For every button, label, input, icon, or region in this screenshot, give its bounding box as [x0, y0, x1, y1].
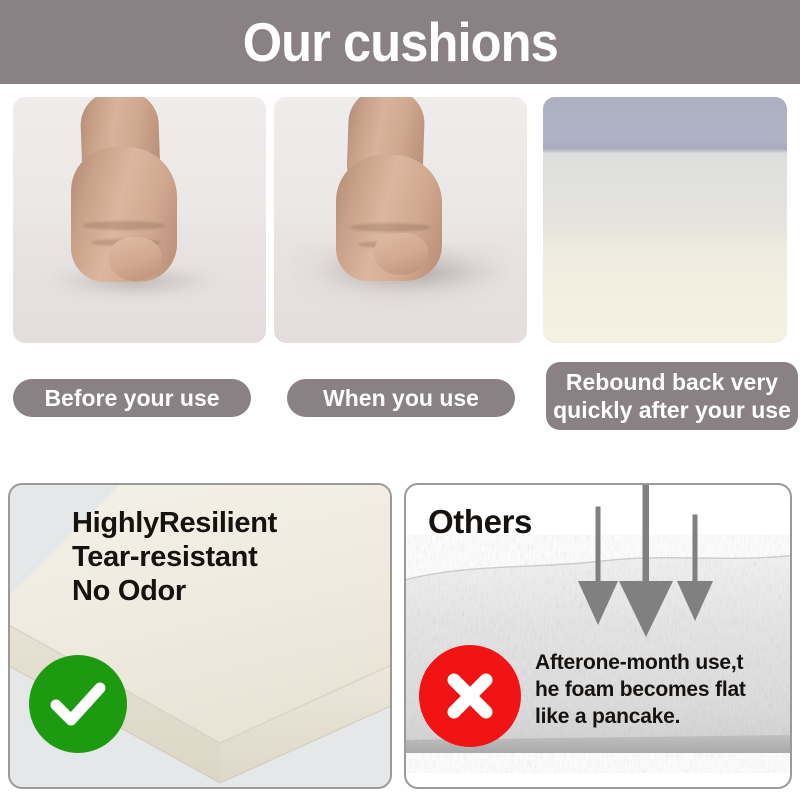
caption-label: Before your use — [44, 385, 219, 412]
arrow-down-icon — [578, 507, 618, 625]
cushion-surface — [13, 97, 266, 343]
foam-closeup — [543, 97, 787, 343]
caption-when-you-use: When you use — [287, 379, 515, 417]
others-caption-line-1: Afterone-month use,t — [535, 650, 746, 677]
curled-fingers — [109, 237, 161, 281]
knuckle-crease-icon — [83, 221, 165, 230]
others-caption-line-3: like a pancake. — [535, 704, 746, 731]
photo-row — [0, 84, 800, 346]
cross-badge — [419, 645, 521, 747]
others-heading: Others — [428, 503, 532, 541]
others-caption-line-2: he foam becomes flat — [535, 677, 746, 704]
page-title: Our cushions — [242, 15, 557, 70]
arrow-down-icon — [677, 515, 713, 621]
cushion-surface — [274, 97, 527, 343]
caption-line-2: quickly after your use — [553, 396, 791, 424]
caption-line-1: Rebound back very — [553, 368, 791, 396]
feature-item-1: HighlyResilient — [72, 507, 277, 541]
others-caption: Afterone-month use,t he foam becomes fla… — [535, 650, 746, 731]
caption-before-use: Before your use — [13, 379, 251, 417]
rebound-photo — [543, 97, 787, 343]
curled-fingers — [374, 233, 428, 275]
caption-label: When you use — [323, 385, 479, 412]
check-icon — [46, 672, 110, 736]
arrow-down-icon — [619, 485, 673, 637]
caption-rebound: Rebound back very quickly after your use — [546, 362, 798, 430]
check-badge — [29, 655, 127, 753]
header-banner: Our cushions — [0, 0, 800, 84]
caption-label: Rebound back very quickly after your use — [553, 368, 791, 424]
during-use-photo — [274, 97, 527, 343]
feature-item-2: Tear-resistant — [72, 541, 277, 575]
feature-list: HighlyResilient Tear-resistant No Odor — [72, 507, 277, 609]
feature-item-3: No Odor — [72, 575, 277, 609]
knuckle-crease-icon — [350, 223, 430, 232]
cross-icon — [438, 664, 502, 728]
before-use-photo — [13, 97, 266, 343]
